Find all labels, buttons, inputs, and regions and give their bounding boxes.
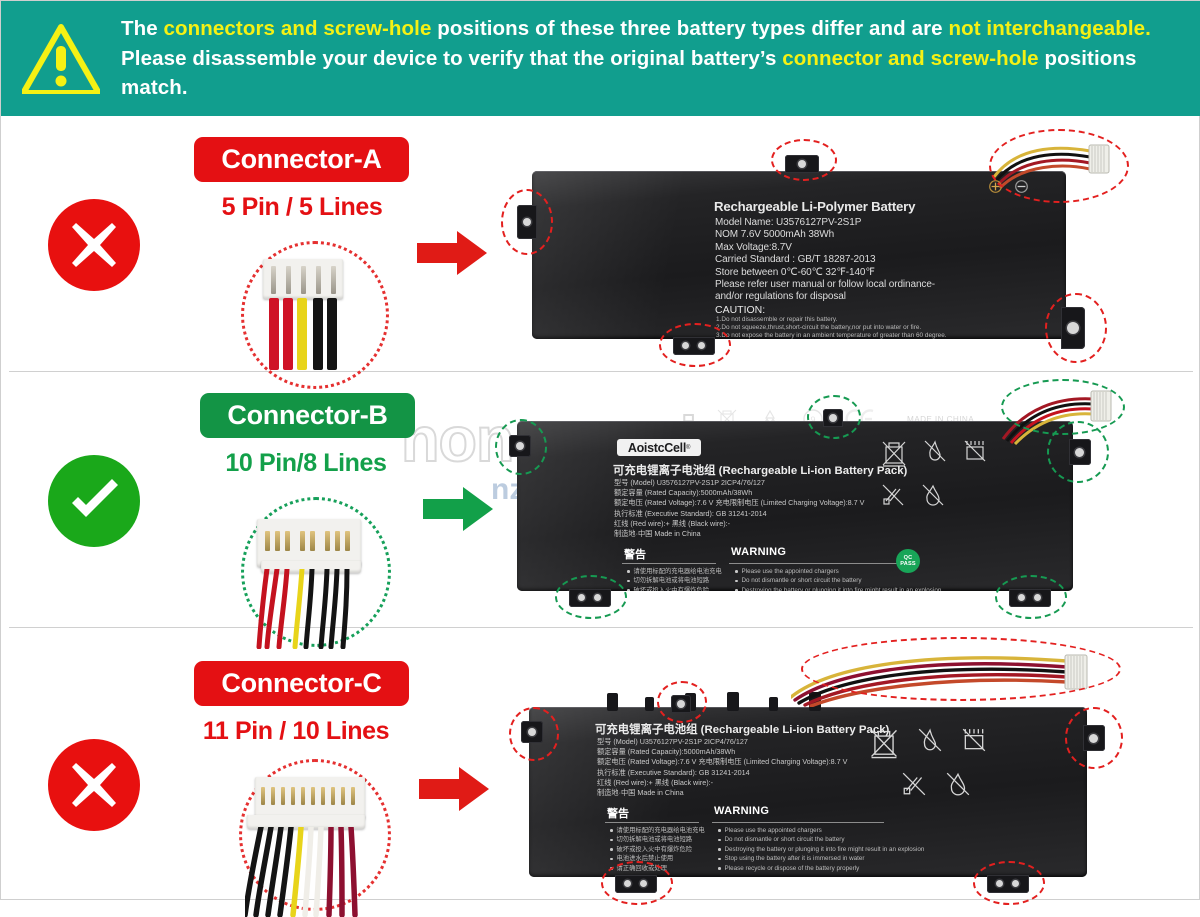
brand-sup: ®: [686, 445, 690, 451]
sub-label-connector-c: 11 Pin / 10 Lines: [181, 717, 411, 746]
warning-banner: The connectors and screw-hole positions …: [1, 1, 1200, 116]
no-heat-icon: [961, 727, 987, 753]
battery-c-line-1: 额定容量 (Rated Capacity):5000mAh/38Wh: [597, 747, 847, 757]
no-heat-icon: [963, 439, 987, 463]
highlight-b-connector: [1001, 379, 1125, 435]
battery-c-pictograms-2: [901, 771, 971, 797]
battery-c-line-4: 红线 (Red wire):+ 黑线 (Black wire):-: [597, 778, 847, 788]
highlight-c-top-screw: [657, 681, 707, 723]
battery-c-warn-cjk-2: 破坏或投入火中有爆炸危险: [617, 845, 693, 854]
battery-c-pictograms: [869, 727, 987, 761]
infographic-page: The connectors and screw-hole positions …: [0, 0, 1200, 900]
battery-c: 可充电锂离子电池组 (Rechargeable Li-ion Battery P…: [529, 707, 1087, 877]
highlight-c-right-screw: [1065, 707, 1123, 769]
battery-b-warning-header-cjk: 警告: [624, 546, 646, 562]
bullet-icon: [718, 848, 721, 851]
highlight-b-bottomleft-screw: [555, 575, 627, 619]
crossed-wheelie-bin-icon: [869, 727, 899, 761]
bullet-icon: [627, 570, 630, 573]
battery-b-brand: AoistcCell®: [617, 439, 701, 456]
highlight-a-left-screw: [501, 189, 553, 255]
battery-a-lines: Model Name: U3576127PV-2S1PNOM 7.6V 5000…: [715, 217, 935, 304]
battery-b-warn-cjk-0: 请使用标配的充电器给电池充电: [634, 567, 722, 576]
bullet-icon: [735, 570, 738, 573]
battery-b-title: 可充电锂离子电池组 (Rechargeable Li-ion Battery P…: [613, 462, 907, 478]
label-connector-c: Connector-C: [194, 661, 409, 706]
banner-highlight-5: connector and screw-hole: [782, 47, 1038, 70]
battery-b-warning-header-en: WARNING: [731, 546, 786, 558]
battery-b-line-1: 额定容量 (Rated Capacity):5000mAh/38Wh: [614, 488, 864, 498]
battery-a-line-5: Please refer user manual or follow local…: [715, 279, 935, 291]
highlight-c-connector: [801, 637, 1121, 701]
battery-c-line-3: 执行标准 (Executive Standard): GB 31241-2014: [597, 768, 847, 778]
battery-a-line-0: Model Name: U3576127PV-2S1P: [715, 217, 935, 229]
battery-b-line-5: 制造地·中国 Made in China: [614, 529, 864, 539]
highlight-c-bottomright-screw: [973, 861, 1045, 905]
arrow-a: [417, 229, 489, 277]
connector-11pin-photo: [245, 775, 385, 915]
connector-10pin-photo: [253, 517, 383, 647]
no-water-icon: [945, 771, 971, 797]
no-fire-icon: [923, 439, 947, 463]
status-icon-b: [48, 455, 140, 547]
battery-a-line-4: Store between 0℃-60℃ 32℉-140℉: [715, 267, 935, 279]
battery-a-caution-header: CAUTION:: [715, 304, 765, 316]
bullet-icon: [735, 580, 738, 583]
battery-c-line-5: 制造地·中国 Made in China: [597, 788, 847, 798]
battery-b-warn-en-2: Destroying the battery or plunging it in…: [742, 586, 942, 591]
banner-plain-0: The: [121, 17, 164, 40]
battery-b-warning-items-cjk: 请使用标配的充电器给电池充电切勿拆解电池或将电池短路破坏或投入火中有爆炸危险电池…: [627, 567, 722, 591]
sub-label-connector-b: 10 Pin/8 Lines: [191, 449, 421, 478]
battery-a-caution-2: 3.Do not expose the battery in an ambien…: [716, 332, 947, 339]
qc-line2: PASS: [900, 561, 916, 567]
section-connector-b: Connector-B 10 Pin/8 Lines: [1, 373, 1200, 627]
highlight-a-bottom-screw: [659, 323, 731, 367]
battery-a-title: Rechargeable Li-Polymer Battery: [714, 199, 915, 214]
battery-b-line-0: 型号 (Model) U3576127PV-2S1P 2ICP4/76/127: [614, 478, 864, 488]
battery-c-line-2: 额定电压 (Rated Voltage):7.6 V 充电限制电压 (Limit…: [597, 757, 847, 767]
status-icon-a: [48, 199, 140, 291]
battery-c-warning-header-cjk: 警告: [607, 805, 629, 821]
battery-a-caution-1: 2.Do not squeeze,thrust,short-circuit th…: [716, 324, 947, 332]
battery-b-pictograms-2: [881, 483, 945, 507]
battery-b-lines: 型号 (Model) U3576127PV-2S1P 2ICP4/76/127额…: [614, 478, 864, 539]
battery-b-line-4: 红线 (Red wire):+ 黑线 (Black wire):-: [614, 519, 864, 529]
battery-b-warn-en-0: Please use the appointed chargers: [742, 567, 839, 576]
bullet-icon: [718, 829, 721, 832]
section-connector-a: Connector-A 5 Pin / 5 Lines Rechargeable…: [1, 117, 1200, 371]
connector-5pin-photo: [257, 259, 377, 389]
battery-a-line-6: and/or regulations for disposal: [715, 291, 935, 303]
highlight-b-top-screw: [807, 395, 861, 439]
no-fire-icon: [917, 727, 943, 753]
status-icon-c: [48, 739, 140, 831]
battery-b-line-2: 额定电压 (Rated Voltage):7.6 V 充电限制电压 (Limit…: [614, 498, 864, 508]
bullet-icon: [610, 858, 613, 861]
battery-c-lines: 型号 (Model) U3576127PV-2S1P 2ICP4/76/127额…: [597, 737, 847, 798]
warning-triangle-icon: [1, 24, 121, 94]
banner-plain-2: positions of these three battery types d…: [431, 17, 948, 40]
battery-c-warning-items-en: Please use the appointed chargersDo not …: [718, 826, 924, 873]
section-divider-1: [9, 371, 1193, 372]
bullet-icon: [735, 589, 738, 591]
bullet-icon: [627, 589, 630, 591]
highlight-a-connector: [989, 129, 1129, 203]
battery-a-line-2: Max Voltage:8.7V: [715, 242, 935, 254]
qc-pass-badge: QC PASS: [896, 549, 920, 573]
label-connector-a: Connector-A: [194, 137, 409, 182]
banner-highlight-3: not interchangeable.: [948, 17, 1150, 40]
banner-highlight-1: connectors and screw-hole: [164, 17, 432, 40]
battery-b: AoistcCell® 可充电锂离子电池组 (Rechargeable Li-i…: [517, 421, 1073, 591]
battery-c-warn-en-2: Destroying the battery or plunging it in…: [725, 845, 925, 854]
no-water-icon: [921, 483, 945, 507]
section-connector-c: Connector-C 11 Pin / 10 Lines: [1, 629, 1200, 901]
battery-c-warn-cjk-1: 切勿拆解电池或将电池短路: [617, 835, 693, 844]
highlight-a-top-screw: [771, 139, 837, 181]
battery-b-warn-cjk-2: 破坏或投入火中有爆炸危险: [634, 586, 710, 591]
sub-label-connector-a: 5 Pin / 5 Lines: [187, 193, 417, 222]
battery-a-caution-items: 1.Do not disassemble or repair this batt…: [716, 316, 947, 339]
bullet-icon: [718, 858, 721, 861]
bullet-icon: [718, 839, 721, 842]
arrow-c: [419, 765, 491, 813]
battery-a: Rechargeable Li-Polymer Battery Model Na…: [532, 171, 1066, 339]
battery-c-warning-header-en: WARNING: [714, 805, 769, 817]
bullet-icon: [610, 839, 613, 842]
battery-c-warn-en-1: Do not dismantle or short circuit the ba…: [725, 835, 845, 844]
battery-c-line-0: 型号 (Model) U3576127PV-2S1P 2ICP4/76/127: [597, 737, 847, 747]
battery-a-line-1: NOM 7.6V 5000mAh 38Wh: [715, 229, 935, 241]
highlight-a-right-screw: [1045, 293, 1107, 363]
bullet-icon: [718, 867, 721, 870]
highlight-b-bottomright-screw: [995, 575, 1067, 619]
battery-b-line-3: 执行标准 (Executive Standard): GB 31241-2014: [614, 509, 864, 519]
battery-c-warn-en-4: Please recycle or dispose of the battery…: [725, 864, 860, 873]
bullet-icon: [610, 829, 613, 832]
banner-text: The connectors and screw-hole positions …: [121, 14, 1200, 103]
arrow-b: [423, 485, 495, 533]
crossed-wheelie-bin-icon: [881, 439, 907, 469]
section-divider-2: [9, 627, 1193, 628]
no-disassemble-icon: [901, 771, 927, 797]
highlight-b-topleft-screw: [495, 419, 547, 475]
banner-plain-4: Please disassemble your device to verify…: [121, 47, 782, 70]
battery-b-warn-cjk-1: 切勿拆解电池或将电池短路: [634, 576, 710, 585]
bullet-icon: [610, 848, 613, 851]
no-disassemble-icon: [881, 483, 905, 507]
highlight-c-bottomleft-screw: [601, 861, 673, 905]
battery-c-warn-cjk-0: 请使用标配的充电器给电池充电: [617, 826, 705, 835]
battery-b-warn-en-1: Do not dismantle or short circuit the ba…: [742, 576, 862, 585]
highlight-c-topleft-screw: [509, 707, 559, 761]
label-connector-b: Connector-B: [200, 393, 415, 438]
brand-text: AoistcCell: [628, 441, 686, 455]
battery-a-line-3: Carried Standard : GB/T 18287-2013: [715, 254, 935, 266]
battery-a-caution-0: 1.Do not disassemble or repair this batt…: [716, 316, 947, 324]
battery-c-warn-en-3: Stop using the battery after it is immer…: [725, 854, 865, 863]
battery-b-pictograms: [881, 439, 987, 469]
bullet-icon: [627, 580, 630, 583]
battery-c-title: 可充电锂离子电池组 (Rechargeable Li-ion Battery P…: [595, 721, 889, 737]
battery-c-warn-en-0: Please use the appointed chargers: [725, 826, 822, 835]
